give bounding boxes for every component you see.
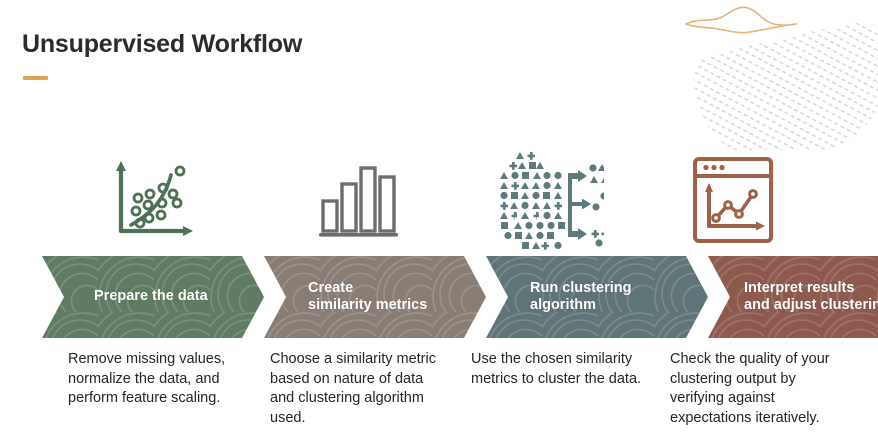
icon-row [0,148,878,252]
chevron-step-2[interactable]: Create similarity metrics [264,256,486,338]
chevron-step-4[interactable]: Interpret results and adjust clustering [708,256,878,338]
chevron-step-1[interactable]: Prepare the data [42,256,264,338]
orange-wave-squiggle [686,7,796,32]
caption-row: Remove missing values, normalize the dat… [0,350,878,447]
page-title: Unsupervised Workflow [22,30,302,59]
title-accent-rule [23,76,48,80]
chevron-band: Prepare the data [0,256,878,338]
slide-canvas: Unsupervised Workflow [0,0,878,447]
chevron-label-2: Create similarity metrics [308,280,427,314]
caption-step-4: Check the quality of your clustering out… [670,350,850,428]
browser-line-chart-icon [673,148,793,252]
clustering-shapes-icon [487,148,607,252]
caption-step-2: Choose a similarity metric based on natu… [270,350,450,428]
chevron-label-4: Interpret results and adjust clustering [744,280,878,314]
gray-textured-blob [678,15,878,150]
chevron-step-3[interactable]: Run clustering algorithm [486,256,708,338]
caption-step-3: Use the chosen similarity metrics to clu… [471,350,651,389]
scatter-plot-icon [92,148,212,252]
chevron-label-1: Prepare the data [94,288,208,305]
caption-step-1: Remove missing values, normalize the dat… [68,350,248,409]
chevron-label-3: Run clustering algorithm [530,280,632,314]
bar-chart-icon [296,148,416,252]
decorative-artwork [638,0,878,150]
